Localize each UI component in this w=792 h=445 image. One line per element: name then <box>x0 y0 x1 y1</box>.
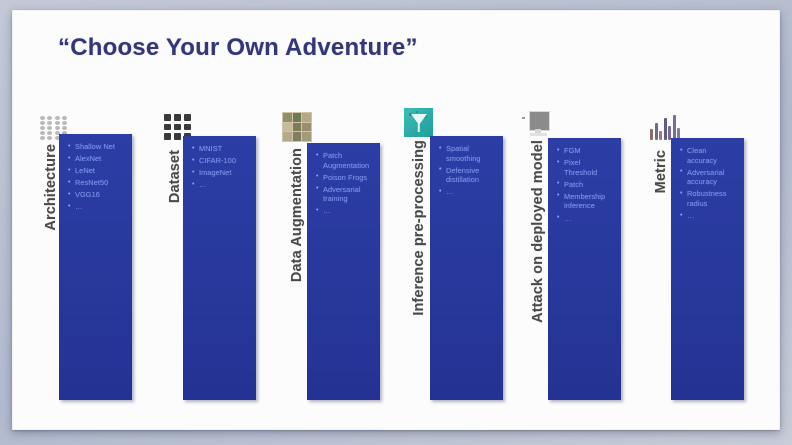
column-box-attack-on-deployed-model: FGM Pixel Threshold Patch Membership inf… <box>548 138 621 400</box>
slide-canvas: “Choose Your Own Adventure” Architecture… <box>12 10 780 430</box>
list-item: Shallow Net <box>68 142 126 152</box>
list-item: Spatial smoothing <box>439 144 497 163</box>
list-item: Poison Frogs <box>316 173 374 183</box>
list-item: Clean accuracy <box>680 146 738 165</box>
list-item: Patch <box>557 180 615 190</box>
column-label-dataset: Dataset <box>167 150 183 203</box>
bullet-list-architecture: Shallow Net AlexNet LeNet ResNet50 VGG16… <box>68 142 126 215</box>
page-title: “Choose Your Own Adventure” <box>58 34 418 62</box>
column-box-dataset: MNIST CIFAR-100 ImageNet … <box>183 136 256 400</box>
list-item: VGG16 <box>68 190 126 200</box>
list-item: … <box>192 180 250 190</box>
list-item: Adversarial training <box>316 185 374 204</box>
bullet-list-attack-on-deployed-model: FGM Pixel Threshold Patch Membership inf… <box>557 146 615 226</box>
list-item: Defensive distillation <box>439 166 497 185</box>
list-item: Robustness radius <box>680 189 738 208</box>
list-item: ImageNet <box>192 168 250 178</box>
column-label-attack-on-deployed-model: Attack on deployed model <box>530 140 546 323</box>
image-grid-icon <box>282 112 312 142</box>
list-item: … <box>557 214 615 224</box>
column-box-architecture: Shallow Net AlexNet LeNet ResNet50 VGG16… <box>59 134 132 400</box>
column-box-metric: Clean accuracy Adversarial accuracy Robu… <box>671 138 744 400</box>
column-label-inference-preprocessing: Inference pre-processing <box>411 140 427 316</box>
bullet-list-data-augmentation: Patch Augmentation Poison Frogs Adversar… <box>316 151 374 219</box>
list-item: Adversarial accuracy <box>680 168 738 187</box>
presentation-slide: “Choose Your Own Adventure” Architecture… <box>12 10 780 430</box>
list-item: AlexNet <box>68 154 126 164</box>
column-box-data-augmentation: Patch Augmentation Poison Frogs Adversar… <box>307 143 380 400</box>
bullet-list-metric: Clean accuracy Adversarial accuracy Robu… <box>680 146 738 223</box>
column-label-metric: Metric <box>653 150 669 193</box>
list-item: LeNet <box>68 166 126 176</box>
column-label-architecture: Architecture <box>43 144 59 231</box>
screenshot-stage: “Choose Your Own Adventure” Architecture… <box>0 0 792 445</box>
list-item: Patch Augmentation <box>316 151 374 170</box>
list-item: MNIST <box>192 144 250 154</box>
list-item: FGM <box>557 146 615 156</box>
bullet-list-inference-preprocessing: Spatial smoothing Defensive distillation… <box>439 144 497 199</box>
list-item: ResNet50 <box>68 178 126 188</box>
list-item: … <box>439 187 497 197</box>
list-item: Pixel Threshold <box>557 158 615 177</box>
column-box-inference-preprocessing: Spatial smoothing Defensive distillation… <box>430 136 503 400</box>
list-item: Membership inference <box>557 192 615 211</box>
list-item: … <box>316 206 374 216</box>
list-item: … <box>680 211 738 221</box>
list-item: … <box>68 202 126 212</box>
list-item: CIFAR-100 <box>192 156 250 166</box>
bar-chart-icon <box>650 114 682 140</box>
column-label-data-augmentation: Data Augmentation <box>289 148 305 282</box>
monitor-icon <box>527 111 551 139</box>
bullet-list-dataset: MNIST CIFAR-100 ImageNet … <box>192 144 250 192</box>
filter-funnel-icon <box>404 108 433 137</box>
